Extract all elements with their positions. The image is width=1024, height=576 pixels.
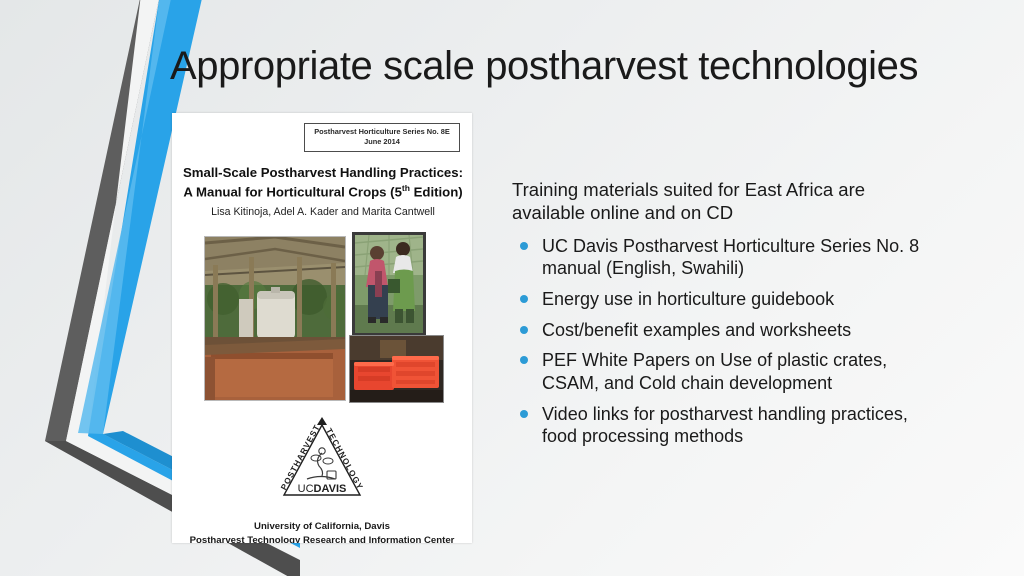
workers-greenhouse-photo — [352, 232, 426, 336]
chevron-blue-highlight — [78, 0, 172, 434]
bullet-dot-icon — [520, 326, 528, 334]
list-item-label: Video links for postharvest handling pra… — [542, 404, 908, 447]
book-cover-image: Postharvest Horticulture Series No. 8E J… — [172, 113, 472, 543]
series-number-box: Postharvest Horticulture Series No. 8E J… — [304, 123, 460, 152]
bullet-dot-icon — [520, 295, 528, 303]
packing-shed-photo — [204, 236, 346, 401]
series-line-1: Postharvest Horticulture Series No. 8E — [307, 127, 457, 137]
book-title-line-1: Small-Scale Postharvest Handling Practic… — [183, 165, 463, 180]
list-item: Energy use in horticulture guidebook — [512, 288, 932, 311]
bullet-dot-icon — [520, 410, 528, 418]
svg-text:TECHNOLOGY: TECHNOLOGY — [324, 427, 365, 492]
cover-photo-collage — [204, 232, 442, 404]
red-plastic-crates-photo — [349, 335, 444, 403]
slide-canvas: Appropriate scale postharvest technologi… — [0, 0, 1024, 576]
svg-text:POSTHARVEST: POSTHARVEST — [279, 423, 322, 492]
series-line-2: June 2014 — [307, 137, 457, 147]
list-item-label: PEF White Papers on Use of plastic crate… — [542, 350, 887, 393]
cover-footer-text: University of California, Davis Postharv… — [172, 520, 472, 543]
svg-text:UCDAVIS: UCDAVIS — [298, 483, 347, 495]
list-item-label: UC Davis Postharvest Horticulture Series… — [542, 236, 919, 279]
list-item-label: Cost/benefit examples and worksheets — [542, 320, 851, 340]
list-item-label: Energy use in horticulture guidebook — [542, 289, 834, 309]
slide-title: Appropriate scale postharvest technologi… — [170, 44, 990, 88]
cover-footer-line-1: University of California, Davis — [172, 520, 472, 534]
bullet-dot-icon — [520, 242, 528, 250]
book-title-line-2-pre: A Manual for Horticultural Crops (5 — [183, 185, 402, 200]
book-title-line-2-post: Edition) — [410, 185, 463, 200]
cover-footer-line-2: Postharvest Technology Research and Info… — [172, 534, 472, 543]
intro-paragraph: Training materials suited for East Afric… — [512, 178, 932, 225]
body-text-column: Training materials suited for East Afric… — [512, 178, 932, 456]
list-item: UC Davis Postharvest Horticulture Series… — [512, 235, 932, 280]
list-item: Video links for postharvest handling pra… — [512, 403, 932, 448]
postharvest-technology-triangle-icon: POSTHARVEST TECHNOLOGY UCDAVIS — [267, 413, 377, 509]
list-item: Cost/benefit examples and worksheets — [512, 319, 932, 342]
book-authors: Lisa Kitinoja, Adel A. Kader and Marita … — [182, 206, 464, 218]
uc-davis-postharvest-logo: POSTHARVEST TECHNOLOGY UCDAVIS Universit… — [172, 413, 472, 543]
bullet-list: UC Davis Postharvest Horticulture Series… — [512, 235, 932, 448]
book-title: Small-Scale Postharvest Handling Practic… — [182, 163, 464, 202]
book-title-ordinal-suffix: th — [402, 183, 410, 193]
list-item: PEF White Papers on Use of plastic crate… — [512, 349, 932, 394]
bullet-dot-icon — [520, 356, 528, 364]
